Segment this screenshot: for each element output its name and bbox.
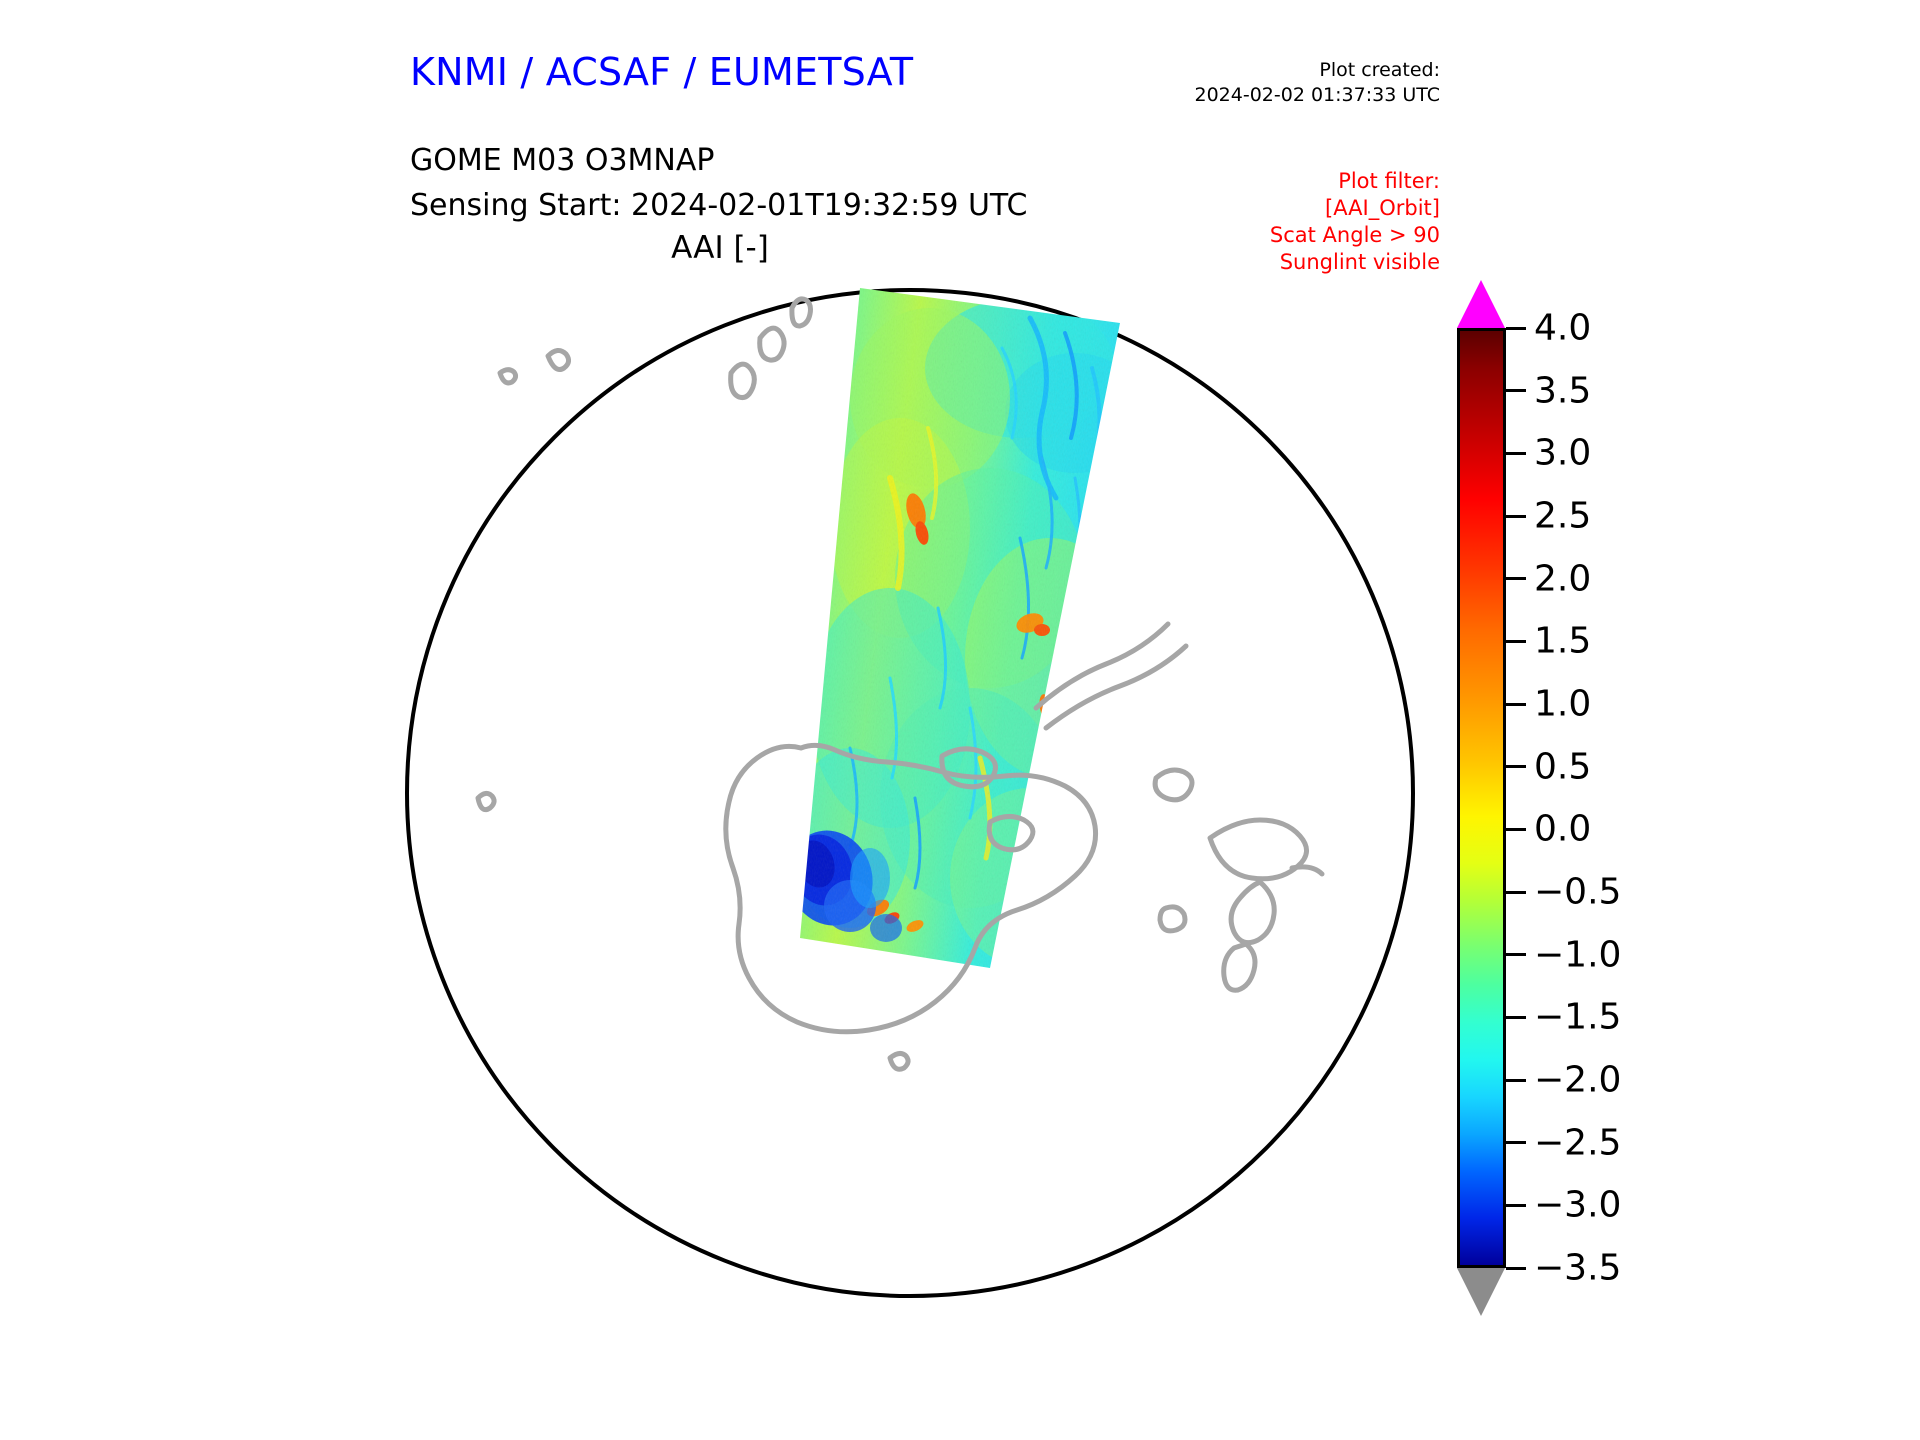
colorbar-tick-label: −0.5 xyxy=(1534,872,1621,913)
colorbar-tick-mark xyxy=(1506,1204,1526,1207)
colorbar-tick-label: 2.5 xyxy=(1534,496,1591,537)
colorbar-tick-label: −2.0 xyxy=(1534,1060,1621,1101)
colorbar-tick-mark xyxy=(1506,953,1526,956)
colorbar-tick-mark xyxy=(1506,891,1526,894)
colorbar-tick-mark xyxy=(1506,703,1526,706)
plot-filter-title: Plot filter: xyxy=(1040,168,1440,195)
colorbar-gradient xyxy=(1457,328,1506,1268)
colorbar-tick-label: 0.0 xyxy=(1534,809,1591,850)
colorbar-tick-label: −2.5 xyxy=(1534,1122,1621,1163)
colorbar-tick-label: 3.0 xyxy=(1534,433,1591,474)
organisation-title: KNMI / ACSAF / EUMETSAT xyxy=(410,50,913,94)
colorbar-tick-label: −3.0 xyxy=(1534,1185,1621,1226)
colorbar-tick-mark xyxy=(1506,1267,1526,1270)
colorbar-tick-mark xyxy=(1506,1016,1526,1019)
colorbar-tick-mark xyxy=(1506,1141,1526,1144)
colorbar-tick-label: 0.5 xyxy=(1534,746,1591,787)
map-plot-area xyxy=(330,278,1420,1368)
colorbar-tick-mark xyxy=(1506,640,1526,643)
colorbar-tick-mark xyxy=(1506,452,1526,455)
dataset-meta-block: GOME M03 O3MNAP Sensing Start: 2024-02-0… xyxy=(410,138,1027,228)
orbit-swath xyxy=(770,278,1150,998)
colorbar-under-range-arrow-icon xyxy=(1457,1268,1505,1316)
plot-filter-line-0: [AAI_Orbit] xyxy=(1040,195,1440,222)
colorbar: 4.03.53.02.52.01.51.00.50.0−0.5−1.0−1.5−… xyxy=(1440,280,1740,1350)
colorbar-tick-label: 1.0 xyxy=(1534,684,1591,725)
sensing-start-line: Sensing Start: 2024-02-01T19:32:59 UTC xyxy=(410,183,1027,228)
colorbar-tick-mark xyxy=(1506,515,1526,518)
colorbar-tick-mark xyxy=(1506,1079,1526,1082)
colorbar-tick-label: −1.5 xyxy=(1534,997,1621,1038)
colorbar-tick-label: 3.5 xyxy=(1534,370,1591,411)
colorbar-over-range-arrow-icon xyxy=(1457,280,1505,328)
instrument-line: GOME M03 O3MNAP xyxy=(410,138,1027,183)
colorbar-tick-label: 1.5 xyxy=(1534,621,1591,662)
plot-created-value: 2024-02-02 01:37:33 UTC xyxy=(900,83,1440,108)
colorbar-tick-mark xyxy=(1506,577,1526,580)
colorbar-tick-mark xyxy=(1506,828,1526,831)
plot-created-label: Plot created: xyxy=(900,58,1440,83)
colorbar-tick-label: −1.0 xyxy=(1534,934,1621,975)
plot-created-block: Plot created: 2024-02-02 01:37:33 UTC xyxy=(900,58,1440,108)
variable-title: AAI [-] xyxy=(0,230,1440,266)
colorbar-tick-mark xyxy=(1506,765,1526,768)
map-svg xyxy=(330,278,1420,1368)
colorbar-tick-mark xyxy=(1506,327,1526,330)
colorbar-tick-label: 4.0 xyxy=(1534,308,1591,349)
colorbar-tick-label: 2.0 xyxy=(1534,558,1591,599)
colorbar-tick-mark xyxy=(1506,389,1526,392)
colorbar-tick-label: −3.5 xyxy=(1534,1248,1621,1289)
